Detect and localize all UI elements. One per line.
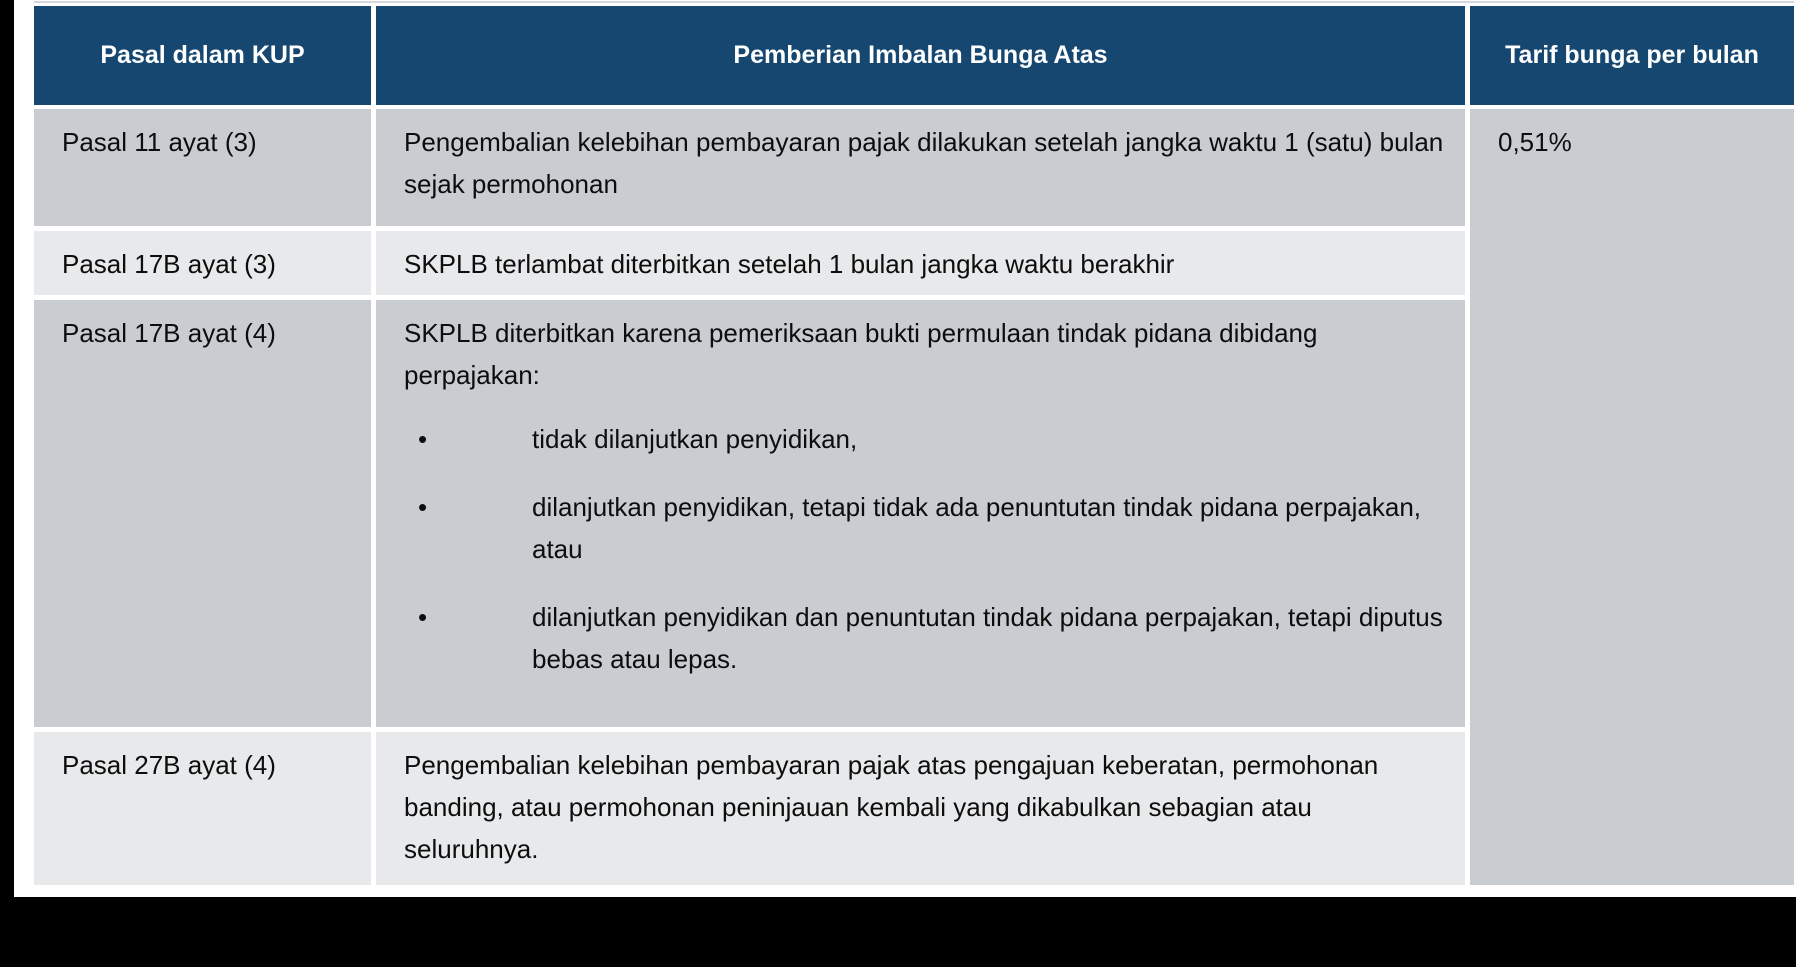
- pasal-label: Pasal 27B ayat (4): [62, 750, 276, 780]
- list-item: • dilanjutkan penyidikan, tetapi tidak a…: [404, 486, 1445, 570]
- list-item: • tidak dilanjutkan penyidikan,: [404, 418, 1445, 460]
- list-item-label: dilanjutkan penyidikan dan penuntutan ti…: [532, 602, 1443, 674]
- column-header-tarif-label: Tarif bunga per bulan: [1505, 40, 1759, 71]
- list-item-label: tidak dilanjutkan penyidikan,: [532, 424, 857, 454]
- tarif-bunga-merged-cell: 0,51%: [1470, 109, 1794, 885]
- table-row-4-pasal-cell: Pasal 27B ayat (4): [34, 732, 371, 885]
- description-text: Pengembalian kelebihan pembayaran pajak …: [404, 121, 1445, 205]
- tarif-bunga-value: 0,51%: [1498, 127, 1572, 157]
- table-row-1-pasal-cell: Pasal 11 ayat (3): [34, 109, 371, 226]
- column-header-pemberian: Pemberian Imbalan Bunga Atas: [376, 6, 1465, 105]
- column-header-pemberian-label: Pemberian Imbalan Bunga Atas: [733, 40, 1107, 71]
- table-row-2-pasal-cell: Pasal 17B ayat (3): [34, 231, 371, 295]
- description-text: SKPLB diterbitkan karena pemeriksaan buk…: [404, 312, 1445, 396]
- table-row-3-pasal-cell: Pasal 17B ayat (4): [34, 300, 371, 727]
- table-row-1-description-cell: Pengembalian kelebihan pembayaran pajak …: [376, 109, 1465, 226]
- column-header-pasal: Pasal dalam KUP: [34, 6, 371, 105]
- bullet-list: • tidak dilanjutkan penyidikan, • dilanj…: [404, 418, 1445, 680]
- list-item-label: dilanjutkan penyidikan, tetapi tidak ada…: [532, 492, 1421, 564]
- column-header-pasal-label: Pasal dalam KUP: [100, 40, 304, 71]
- description-text: Pengembalian kelebihan pembayaran pajak …: [404, 744, 1445, 870]
- bullet-icon: •: [418, 418, 427, 460]
- table-row-2-description-cell: SKPLB terlambat diterbitkan setelah 1 bu…: [376, 231, 1465, 295]
- list-item: • dilanjutkan penyidikan dan penuntutan …: [404, 596, 1445, 680]
- pasal-label: Pasal 17B ayat (4): [62, 318, 276, 348]
- bullet-icon: •: [418, 596, 427, 638]
- pasal-label: Pasal 17B ayat (3): [62, 249, 276, 279]
- imbalan-bunga-table: Pasal dalam KUP Pemberian Imbalan Bunga …: [34, 6, 1794, 885]
- column-header-tarif: Tarif bunga per bulan: [1470, 6, 1794, 105]
- table-top-rule: [34, 1, 1794, 3]
- table-row-3-description-cell: SKPLB diterbitkan karena pemeriksaan buk…: [376, 300, 1465, 727]
- pasal-label: Pasal 11 ayat (3): [62, 127, 257, 157]
- bullet-icon: •: [418, 486, 427, 528]
- description-text: SKPLB terlambat diterbitkan setelah 1 bu…: [404, 243, 1445, 285]
- page-sheet: Pasal dalam KUP Pemberian Imbalan Bunga …: [14, 0, 1796, 897]
- table-row-4-description-cell: Pengembalian kelebihan pembayaran pajak …: [376, 732, 1465, 885]
